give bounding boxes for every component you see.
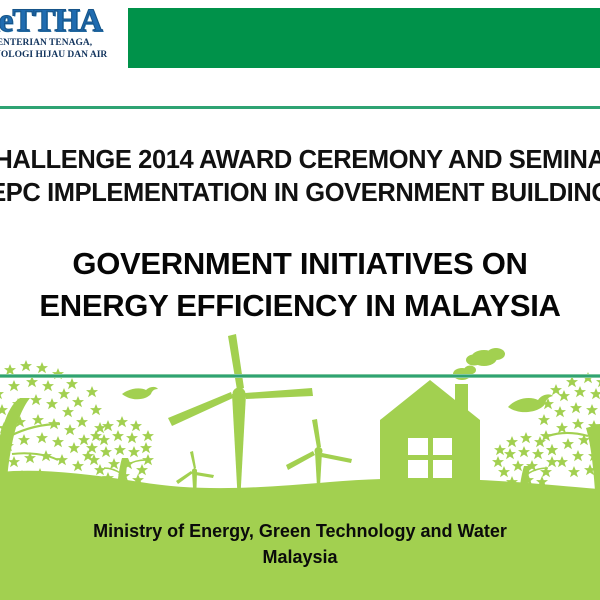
- page-title: GOVERNMENT INITIATIVES ON ENERGY EFFICIE…: [0, 243, 600, 327]
- landscape-svg: [0, 332, 600, 504]
- kettha-logo-subtitle-line2: TEKNOLOGI HIJAU DAN AIR: [0, 50, 130, 62]
- green-landscape-illustration: [0, 332, 600, 504]
- kettha-logo: KeTTHA KEMENTERIAN TENAGA, TEKNOLOGI HIJ…: [0, 4, 130, 68]
- event-title: CHALLENGE 2014 AWARD CEREMONY AND SEMINA…: [0, 144, 600, 210]
- kettha-logo-subtitle-line1: KEMENTERIAN TENAGA,: [0, 38, 130, 50]
- slide-header: KeTTHA KEMENTERIAN TENAGA, TEKNOLOGI HIJ…: [0, 0, 600, 86]
- header-divider-rule: [0, 106, 600, 109]
- header-green-bar: [128, 8, 600, 68]
- illustration-divider-rule: [0, 374, 600, 378]
- ministry-name: Ministry of Energy, Green Technology and…: [0, 518, 600, 570]
- page-title-line1: GOVERNMENT INITIATIVES ON: [0, 243, 600, 285]
- event-title-line2: EPC IMPLEMENTATION IN GOVERNMENT BUILDIN…: [0, 177, 600, 210]
- page-title-line2: ENERGY EFFICIENCY IN MALAYSIA: [0, 285, 600, 327]
- tree-large-right: [538, 372, 600, 504]
- ministry-name-line1: Ministry of Energy, Green Technology and…: [0, 518, 600, 544]
- bird-left: [122, 387, 158, 399]
- slide-footer: Ministry of Energy, Green Technology and…: [0, 500, 600, 600]
- kettha-logo-subtitle: KEMENTERIAN TENAGA, TEKNOLOGI HIJAU DAN …: [0, 38, 130, 61]
- hill-ground: [0, 471, 600, 504]
- event-title-line1: CHALLENGE 2014 AWARD CEREMONY AND SEMINA…: [0, 144, 600, 177]
- ministry-name-line2: Malaysia: [0, 544, 600, 570]
- presentation-slide: KeTTHA KEMENTERIAN TENAGA, TEKNOLOGI HIJ…: [0, 0, 600, 600]
- kettha-logo-wordmark: KeTTHA: [0, 4, 130, 38]
